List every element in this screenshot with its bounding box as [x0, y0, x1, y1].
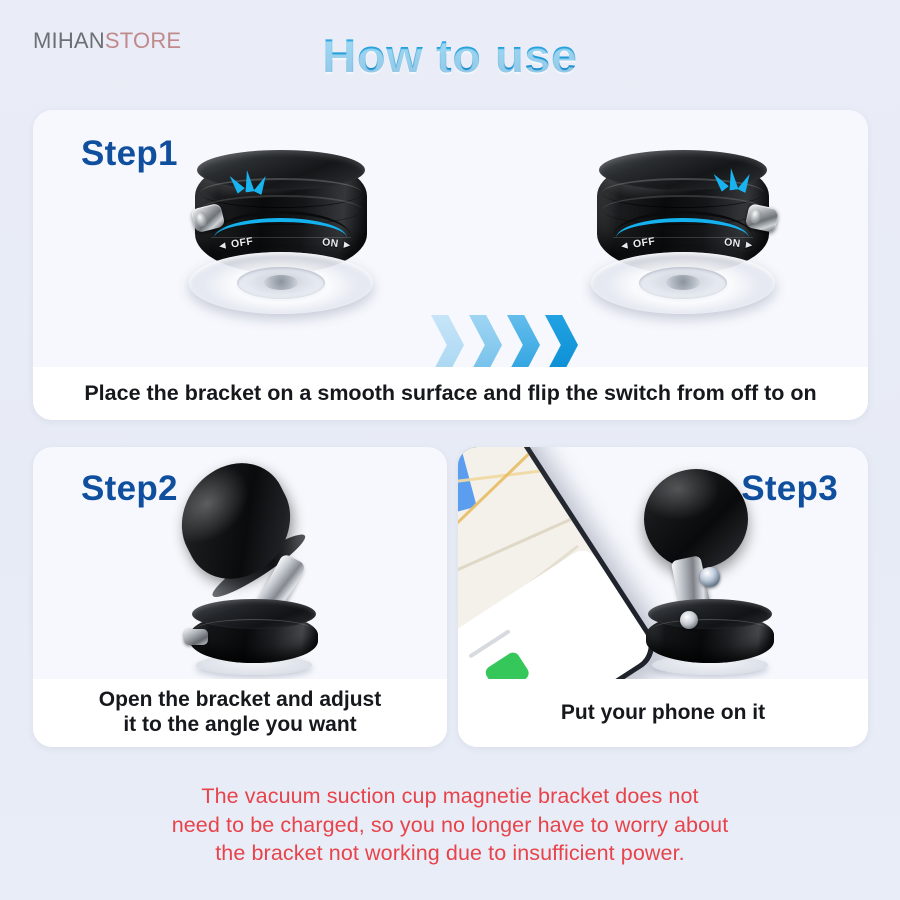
footer-line-1: The vacuum suction cup magnetie bracket …	[0, 782, 900, 811]
step-2-caption: Open the bracket and adjust it to the an…	[33, 679, 447, 747]
chevron-right-icon	[507, 315, 540, 367]
magnetic-disc-head	[644, 469, 748, 569]
device-bracket-upright	[626, 465, 794, 677]
device-puck-on: ◄ OFF ON ►	[583, 148, 783, 323]
suction-cup-base	[591, 252, 775, 314]
footer-line-3: the bracket not working due to insuffici…	[0, 839, 900, 868]
step-3-illustration: Step3	[458, 447, 868, 679]
step-card-2: Step2 Open the bracket and a	[33, 447, 447, 747]
page-title-word-1: How	[322, 29, 423, 82]
transition-arrows	[431, 315, 581, 367]
device-bracket-open	[158, 465, 338, 677]
click-burst-icon	[713, 168, 757, 204]
hinge-screw	[700, 567, 720, 587]
infographic-page: MIHANSTORE Howto use Step1 ◄ OFF ON ►	[0, 0, 900, 900]
footer-note: The vacuum suction cup magnetie bracket …	[0, 782, 900, 868]
base-ring	[651, 619, 769, 641]
chevron-right-icon	[431, 315, 464, 367]
step-1-illustration: Step1 ◄ OFF ON ►	[33, 110, 868, 367]
disc-face	[644, 469, 748, 569]
step-1-caption: Place the bracket on a smooth surface an…	[33, 367, 868, 420]
base-ring	[195, 619, 313, 641]
suction-cup-base	[189, 252, 373, 314]
map-road	[458, 447, 542, 593]
step-2-illustration: Step2	[33, 447, 447, 679]
device-puck-off: ◄ OFF ON ►	[181, 148, 381, 323]
footer-line-2: need to be charged, so you no longer hav…	[0, 811, 900, 840]
step-2-caption-line-1: Open the bracket and adjust	[99, 688, 381, 711]
step-2-caption-line-2: it to the angle you want	[123, 713, 356, 736]
step-card-3: Step3	[458, 447, 868, 747]
chevron-right-icon	[469, 315, 502, 367]
device-base	[190, 599, 318, 671]
click-burst-icon	[229, 170, 273, 206]
step-1-label: Step1	[81, 134, 178, 174]
page-title: Howto use	[0, 28, 900, 83]
power-switch-knob[interactable]	[184, 629, 208, 645]
page-title-word-2: to use	[436, 29, 577, 82]
device-base	[646, 599, 774, 671]
step-3-caption: Put your phone on it	[458, 679, 868, 747]
chevron-right-icon	[545, 315, 578, 367]
step-card-1: Step1 ◄ OFF ON ►	[33, 110, 868, 420]
base-screw	[680, 611, 698, 629]
